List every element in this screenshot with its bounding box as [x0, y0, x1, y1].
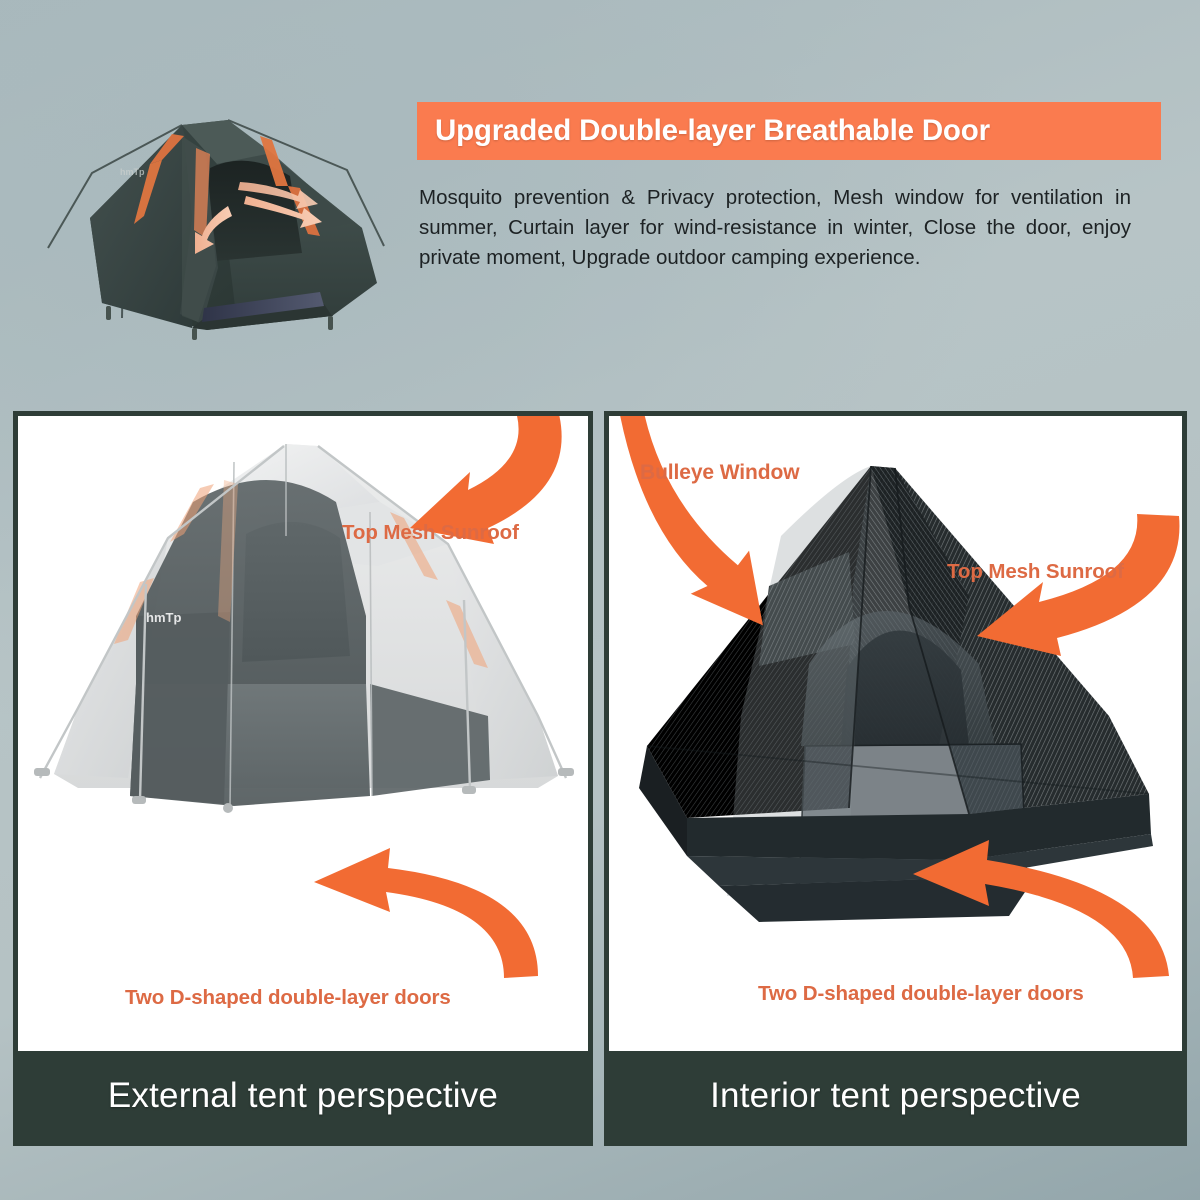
callout-bulleye-window: Bulleye Window: [640, 461, 799, 485]
tent-thumbnail-illustration: hmTp: [32, 78, 412, 350]
external-tent-stage: hmTp: [18, 416, 588, 1051]
interior-tent-stage: [609, 416, 1182, 1051]
callout-top-mesh-sunroof-external: Top Mesh Sunroof: [342, 521, 519, 545]
banner-title: Upgraded Double-layer Breathable Door: [417, 114, 990, 148]
brand-logo: hmTp: [120, 167, 145, 177]
external-panel-caption: External tent perspective: [18, 1051, 588, 1141]
sunroof-arrow: [977, 514, 1179, 656]
interior-tent-illustration: [609, 416, 1182, 1051]
panel-interior-tent: Interior tent perspective: [604, 411, 1187, 1146]
external-tent-illustration: hmTp: [18, 416, 588, 1051]
interior-panel-caption: Interior tent perspective: [609, 1051, 1182, 1141]
callout-top-mesh-sunroof-interior: Top Mesh Sunroof: [947, 560, 1124, 584]
product-description: Mosquito prevention & Privacy protection…: [419, 183, 1131, 273]
bulleye-arrow: [619, 416, 765, 645]
callout-two-d-shaped-doors-external: Two D-shaped double-layer doors: [125, 986, 451, 1010]
brand-logo: hmTp: [146, 610, 181, 625]
title-banner: Upgraded Double-layer Breathable Door: [417, 102, 1161, 160]
doors-arrow: [314, 848, 538, 978]
product-thumbnail: hmTp: [32, 78, 412, 350]
callout-two-d-shaped-doors-interior: Two D-shaped double-layer doors: [758, 982, 1084, 1006]
